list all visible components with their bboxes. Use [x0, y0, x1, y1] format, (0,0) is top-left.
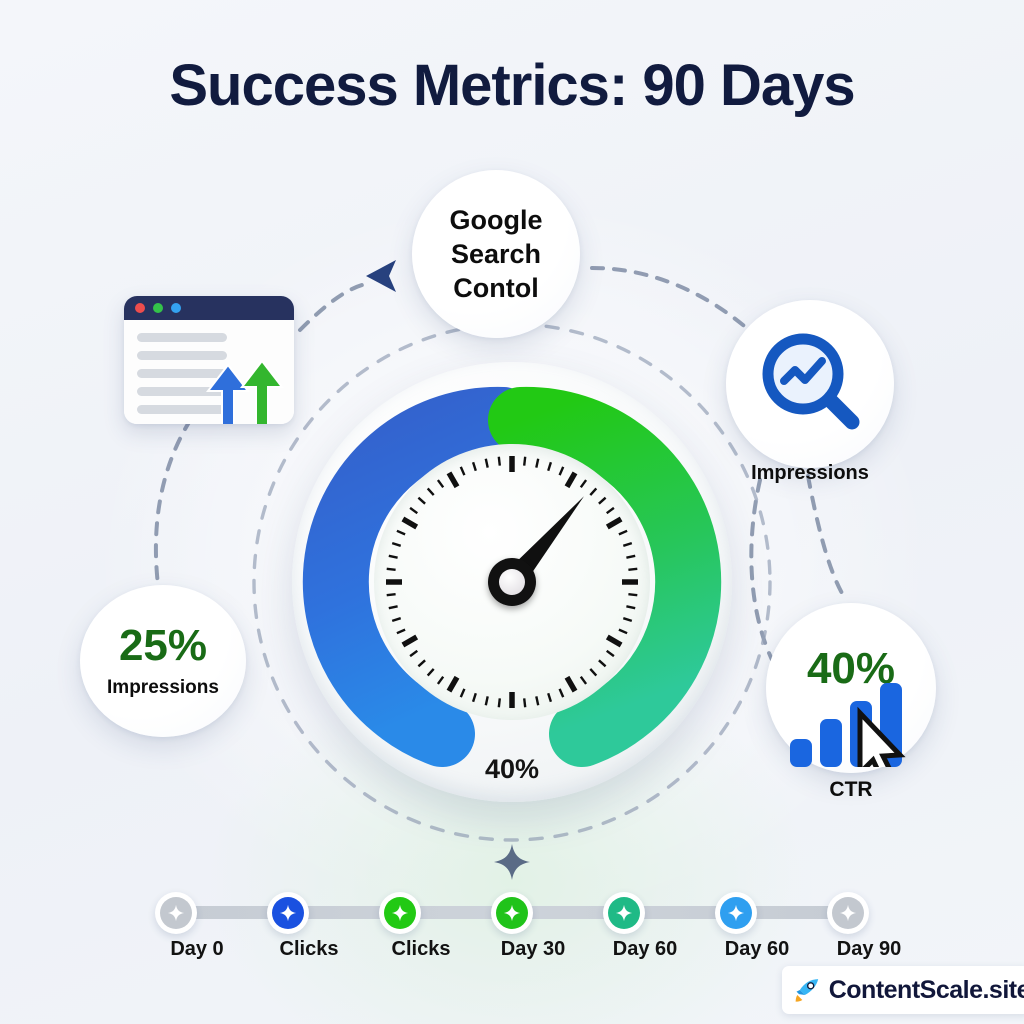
performance-gauge: 40%	[292, 362, 732, 802]
ctr-bubble-caption: CTR	[766, 778, 936, 802]
browser-dot-green	[153, 303, 163, 313]
sparkle-icon	[839, 904, 857, 922]
timeline-node[interactable]	[603, 892, 645, 934]
timeline: Day 0ClicksClicksDay 30Day 60Day 60Day 9…	[140, 880, 884, 970]
gauge-needle-hub	[488, 558, 536, 606]
timeline-node-dot	[496, 897, 528, 929]
timeline-node-dot	[832, 897, 864, 929]
timeline-node-dot	[272, 897, 304, 929]
browser-dot-red	[135, 303, 145, 313]
connector-left-to-google	[300, 283, 372, 330]
connector-right-down	[808, 476, 846, 600]
timeline-node[interactable]	[267, 892, 309, 934]
impressions-percent-value: 25%	[119, 624, 207, 668]
infographic-canvas: Success Metrics: 90 Days	[0, 0, 1024, 1024]
timeline-node-dot	[160, 897, 192, 929]
timeline-node-dot	[608, 897, 640, 929]
browser-dot-blue	[171, 303, 181, 313]
timeline-node[interactable]	[155, 892, 197, 934]
impressions-bubble-caption: Impressions	[704, 462, 916, 485]
timeline-node-label: Day 90	[809, 938, 929, 961]
connector-google-to-right	[592, 268, 760, 340]
ctr-percent-bubble[interactable]: 40%	[766, 603, 936, 773]
growth-arrows-icon	[202, 355, 288, 424]
sparkle-icon	[727, 904, 745, 922]
timeline-node-label: Day 60	[697, 938, 817, 961]
bar-chart-cursor-icon	[788, 681, 918, 767]
google-bubble-line3: Contol	[453, 271, 538, 305]
gauge-value-label: 40%	[292, 754, 732, 785]
timeline-node-label: Clicks	[361, 938, 481, 961]
browser-body	[124, 320, 294, 424]
rocket-icon	[794, 974, 821, 1006]
timeline-node-dot	[720, 897, 752, 929]
google-bubble-line2: Search	[451, 237, 541, 271]
watermark: ContentScale.site	[782, 966, 1024, 1014]
sparkle-icon	[167, 904, 185, 922]
timeline-node[interactable]	[827, 892, 869, 934]
timeline-node-label: Day 0	[137, 938, 257, 961]
timeline-node-dot	[384, 897, 416, 929]
timeline-node-label: Day 60	[585, 938, 705, 961]
connector-arrow-icon	[366, 260, 396, 292]
timeline-node[interactable]	[491, 892, 533, 934]
sparkle-icon	[503, 904, 521, 922]
sparkle-icon	[615, 904, 633, 922]
sparkle-marker-icon	[492, 842, 532, 882]
google-bubble-line1: Google	[450, 203, 543, 237]
impressions-bubble[interactable]	[726, 300, 894, 468]
browser-window-card	[124, 296, 294, 424]
timeline-node-label: Day 30	[473, 938, 593, 961]
browser-title-bar	[124, 296, 294, 320]
timeline-node-label: Clicks	[249, 938, 369, 961]
impressions-percent-label: Impressions	[107, 677, 219, 699]
watermark-text: ContentScale.site	[829, 976, 1024, 1005]
magnifier-chart-icon	[751, 325, 869, 443]
timeline-node[interactable]	[379, 892, 421, 934]
sparkle-icon	[279, 904, 297, 922]
sparkle-icon	[391, 904, 409, 922]
impressions-percent-bubble[interactable]: 25% Impressions	[80, 585, 246, 737]
google-search-console-bubble[interactable]: Google Search Contol	[412, 170, 580, 338]
browser-text-line	[137, 333, 227, 342]
timeline-node[interactable]	[715, 892, 757, 934]
